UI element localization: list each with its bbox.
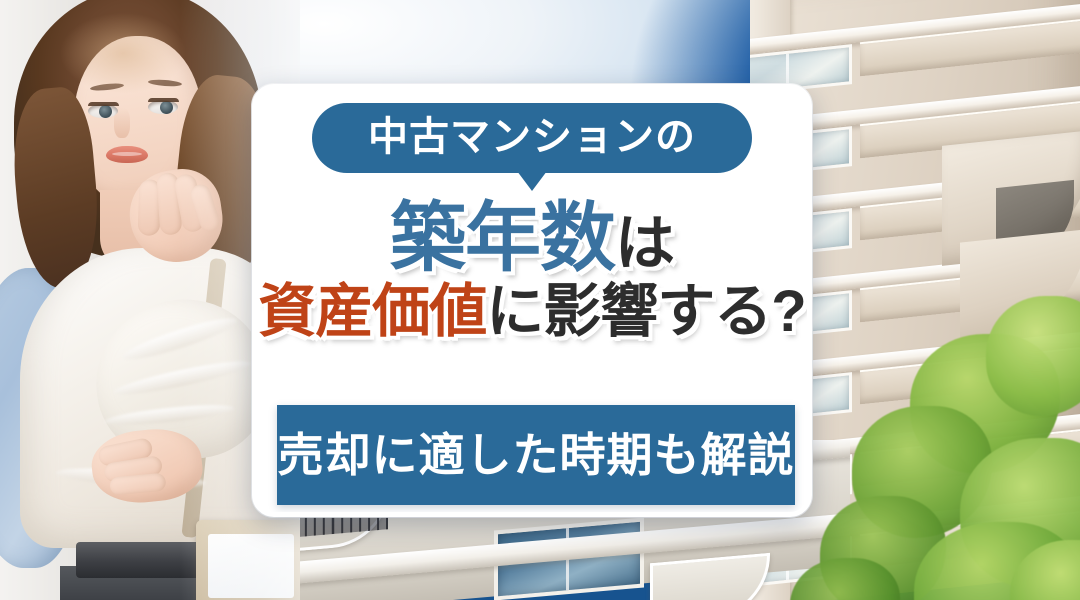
pill-bubble-wrapper: 中古マンションの xyxy=(257,103,807,173)
headline-tail-text: に影響する? xyxy=(486,283,805,341)
headline-line-2: 資産価値に影響する? xyxy=(257,283,807,341)
headline-line-1: 築年数は xyxy=(257,201,807,277)
pill-bubble-tail-icon xyxy=(517,171,547,191)
title-card: 中古マンションの 築年数は 資産価値に影響する? 売却に適した時期も解説 xyxy=(252,84,812,517)
title-card-inner: 中古マンションの 築年数は 資産価値に影響する? 売却に適した時期も解説 xyxy=(257,89,807,512)
subtitle-banner-label: 売却に適した時期も解説 xyxy=(278,432,795,478)
headline-keyword-blue: 築年数 xyxy=(390,201,615,277)
banner-stage: 中古マンションの 築年数は 資産価値に影響する? 売却に適した時期も解説 xyxy=(0,0,1080,600)
headline-keyword-orange: 資産価値 xyxy=(258,283,486,341)
pill-label: 中古マンションの xyxy=(356,116,708,158)
pill-bubble: 中古マンションの xyxy=(312,103,752,173)
headline-particle-wa: は xyxy=(615,214,674,274)
subtitle-banner: 売却に適した時期も解説 xyxy=(277,405,795,505)
